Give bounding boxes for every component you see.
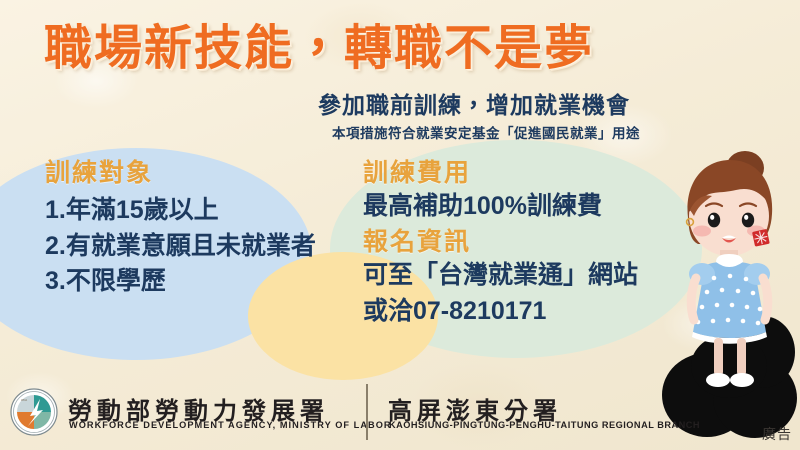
poster-footer: WDA 勞動部勞動力發展署 WORKFORCE DEVELOPMENT AGEN…	[0, 374, 800, 450]
footer-divider	[366, 384, 368, 440]
cartoon-girl-icon	[660, 150, 800, 400]
registration-line-2: 或洽07-8210171	[363, 294, 683, 330]
training-target-item-3: 3.不限學歷	[45, 264, 365, 300]
agency-seal-icon: WDA	[10, 388, 58, 436]
agency-name-en: WORKFORCE DEVELOPMENT AGENCY, MINISTRY O…	[69, 420, 392, 430]
section-heading-training-target: 訓練對象	[45, 158, 365, 189]
training-fee-and-registration-block: 訓練費用 最高補助100%訓練費 報名資訊 可至「台灣就業通」網站 或洽07-8…	[363, 158, 683, 329]
poster-headline: 職場新技能，轉職不是夢	[44, 8, 594, 78]
training-target-item-1: 1.年滿15歲以上	[45, 193, 365, 229]
poster-fine-print: 本項措施符合就業安定基金「促進國民就業」用途	[332, 122, 640, 142]
training-fee-line-1: 最高補助100%訓練費	[363, 189, 683, 225]
advertisement-label: 廣告	[762, 424, 792, 444]
svg-text:WDA: WDA	[21, 398, 27, 402]
training-target-item-2: 2.有就業意願且未就業者	[45, 229, 365, 265]
poster-canvas: 職場新技能，轉職不是夢 參加職前訓練，增加就業機會 本項措施符合就業安定基金「促…	[0, 0, 800, 450]
section-heading-registration-info: 報名資訊	[363, 227, 683, 258]
poster-subheadline: 參加職前訓練，增加就業機會	[318, 86, 630, 120]
branch-name-en: KAOHSIUNG-PINGTUNG-PENGHU-TAITUNG REGION…	[389, 420, 700, 430]
training-target-block: 訓練對象 1.年滿15歲以上 2.有就業意願且未就業者 3.不限學歷	[45, 158, 365, 300]
section-heading-training-fee: 訓練費用	[363, 158, 683, 189]
registration-line-1: 可至「台灣就業通」網站	[363, 258, 683, 294]
